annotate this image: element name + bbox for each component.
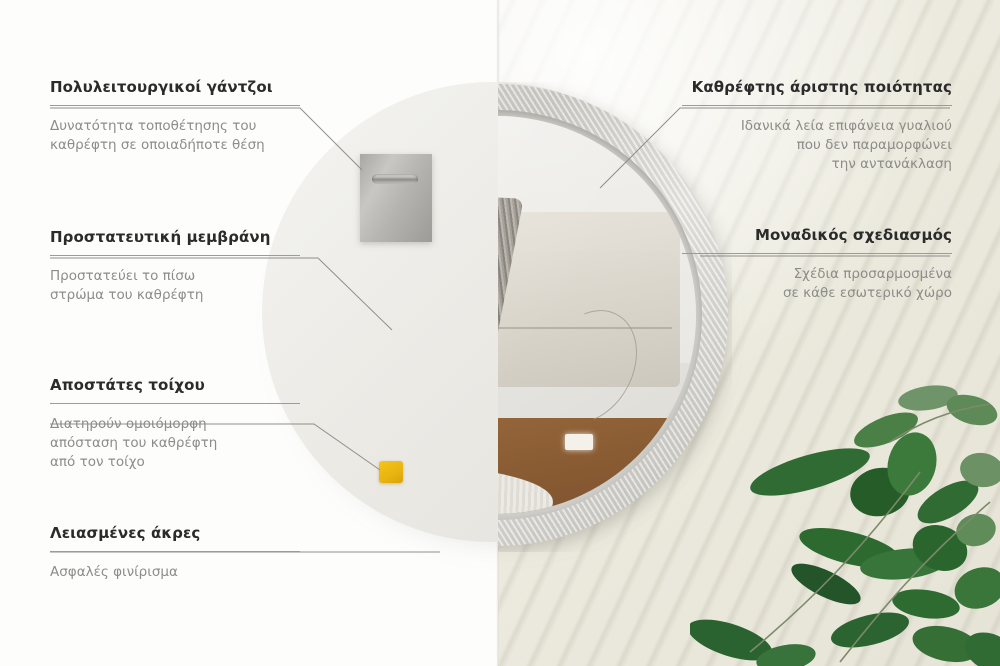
callout-title: Λειασμένες άκρες — [50, 524, 300, 542]
green-leaves-decor — [690, 352, 1000, 666]
callout-title: Πολυλειτουργικοί γάντζοι — [50, 78, 300, 96]
callout-unique-design: Μοναδικός σχεδιασμός Σχέδια προσαρμοσμέν… — [682, 226, 952, 303]
callout-rule — [50, 403, 300, 404]
callout-mirror-quality: Καθρέφτης άριστης ποιότητας Ιδανικά λεία… — [682, 78, 952, 174]
callout-desc: Διατηρούν ομοιόμορφηαπόσταση του καθρέφτ… — [50, 415, 300, 472]
hook-mounting-plate — [360, 154, 432, 242]
callout-rule — [50, 551, 300, 552]
wall-spacer — [379, 461, 403, 483]
callout-title: Αποστάτες τοίχου — [50, 376, 300, 394]
callout-title: Καθρέφτης άριστης ποιότητας — [682, 78, 952, 96]
callout-desc: Ιδανικά λεία επιφάνεια γυαλιούπου δεν πα… — [682, 117, 952, 174]
callout-hooks: Πολυλειτουργικοί γάντζοι Δυνατότητα τοπο… — [50, 78, 300, 155]
mirror-product — [262, 82, 732, 552]
callout-title: Μοναδικός σχεδιασμός — [682, 226, 952, 244]
callout-desc: Σχέδια προσαρμοσμένασε κάθε εσωτερικό χώ… — [682, 265, 952, 303]
callout-desc: Προστατεύει το πίσωστρώμα του καθρέφτη — [50, 267, 300, 305]
hook-slot — [372, 174, 418, 184]
callout-desc: Ασφαλές φινίρισμα — [50, 563, 300, 582]
callout-smooth-edges: Λειασμένες άκρες Ασφαλές φινίρισμα — [50, 524, 300, 582]
callout-membrane: Προστατευτική μεμβράνη Προστατεύει το πί… — [50, 228, 300, 305]
infographic-canvas: Πολυλειτουργικοί γάντζοι Δυνατότητα τοπο… — [0, 0, 1000, 666]
callout-rule — [50, 255, 300, 256]
callout-rule — [50, 105, 300, 106]
callout-rule — [682, 253, 952, 254]
callout-rule — [682, 105, 952, 106]
reflected-lamp-shade — [565, 434, 593, 450]
callout-spacers: Αποστάτες τοίχου Διατηρούν ομοιόμορφηαπό… — [50, 376, 300, 472]
callout-desc: Δυνατότητα τοποθέτησης τουκαθρέφτη σε οπ… — [50, 117, 300, 155]
callout-title: Προστατευτική μεμβράνη — [50, 228, 300, 246]
